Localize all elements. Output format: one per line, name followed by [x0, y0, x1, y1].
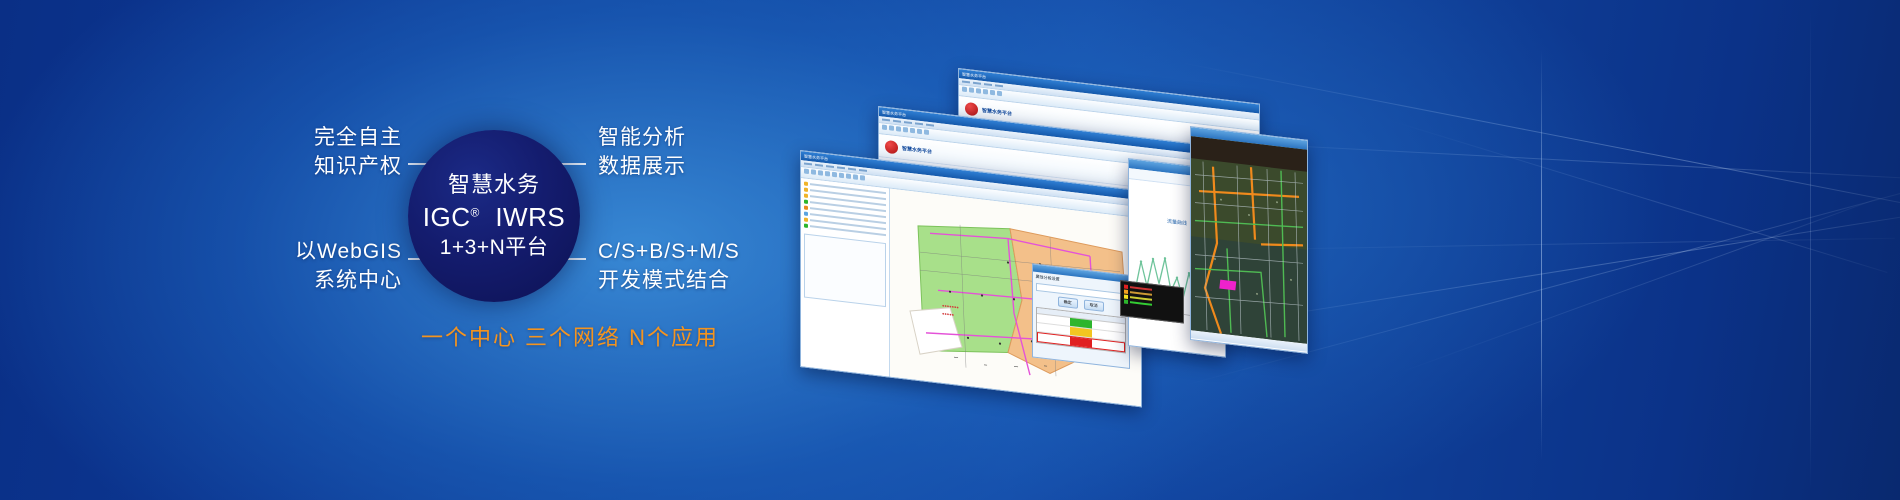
feature-top-left-line1: 完全自主: [314, 126, 402, 149]
gis-map-canvas[interactable]: ●●●●●●● ●●●●● ▪▪▪▪▪▪▪ ▪▪▪▪▪▪▪ 属性分段设置: [890, 189, 1141, 407]
satellite-map-svg: [1191, 136, 1307, 344]
svg-text:▪▪▪▪: ▪▪▪▪: [954, 355, 958, 359]
feature-bottom-right-line1: C/S+B/S+M/S: [598, 240, 740, 263]
legend-swatch-red: [1070, 337, 1092, 348]
company-logo-icon: [965, 101, 978, 116]
logo-title-cn: 智慧水务: [448, 173, 540, 197]
window-front-body: ●●●●●●● ●●●●● ▪▪▪▪▪▪▪ ▪▪▪▪▪▪▪ 属性分段设置: [801, 178, 1141, 406]
svg-text:▪▪▪: ▪▪▪: [984, 363, 987, 367]
banner-stage: 完全自主 知识产权 智能分析 数据展示 以WebGIS 系统中心 C/S+B/S…: [0, 0, 1900, 500]
window-mid-brandname: 智慧水务平台: [902, 144, 932, 155]
feature-label-bottom-left: 以WebGIS 系统中心: [212, 238, 402, 296]
perspective-vline-1: [1541, 50, 1542, 460]
property-segmentation-dialog[interactable]: 属性分段设置 确定 取消: [1032, 263, 1130, 369]
satellite-map-canvas[interactable]: [1191, 136, 1307, 344]
svg-text:▪▪▪: ▪▪▪: [1044, 364, 1047, 368]
feature-bottom-left-line1: 以WebGIS: [295, 240, 402, 263]
feature-top-right-line2: 数据展示: [598, 153, 818, 182]
app-window-front[interactable]: 智慧水务平台: [800, 150, 1142, 407]
perspective-vline-2: [1810, 10, 1811, 490]
feature-label-top-right: 智能分析 数据展示: [598, 124, 818, 182]
feature-bottom-left-line2: 系统中心: [212, 267, 402, 296]
screenshot-stack: 智慧水务平台 智慧水务平台 智慧水务平台(IGC®IWRS) 空间查询 信息查询…: [790, 30, 1430, 370]
tagline: 一个中心 三个网络 N个应用: [360, 320, 780, 352]
feature-label-top-left: 完全自主 知识产权: [232, 124, 402, 182]
layer-tree-panel[interactable]: [801, 178, 890, 376]
window-back-brandname: 智慧水务平台: [982, 106, 1012, 117]
svg-text:▪▪▪▪: ▪▪▪▪: [1014, 364, 1018, 368]
app-window-satellite-map[interactable]: [1190, 126, 1308, 354]
dialog-ok-button[interactable]: 确定: [1058, 296, 1078, 308]
light-ray-7: [1400, 198, 1880, 373]
logo-igc: IGC: [423, 202, 471, 232]
light-ray-6: [1390, 120, 1888, 273]
feature-top-right-line1: 智能分析: [598, 126, 686, 149]
highlight-parcel: [1219, 280, 1236, 291]
logo-product-code: IGC® IWRS: [423, 204, 565, 231]
legend-table[interactable]: [1036, 307, 1126, 354]
feature-top-left-line2: 知识产权: [232, 153, 402, 182]
registered-mark-icon: ®: [471, 206, 480, 220]
logo-platform-line: 1+3+N平台: [440, 236, 549, 259]
attribute-table-panel[interactable]: [804, 233, 886, 307]
dialog-cancel-button[interactable]: 取消: [1084, 299, 1104, 311]
company-logo-icon: [885, 139, 898, 154]
logo-circle: 智慧水务 IGC® IWRS 1+3+N平台: [408, 130, 580, 302]
map-legend-overlay: [1120, 280, 1184, 324]
logo-iwrs: IWRS: [495, 202, 565, 232]
